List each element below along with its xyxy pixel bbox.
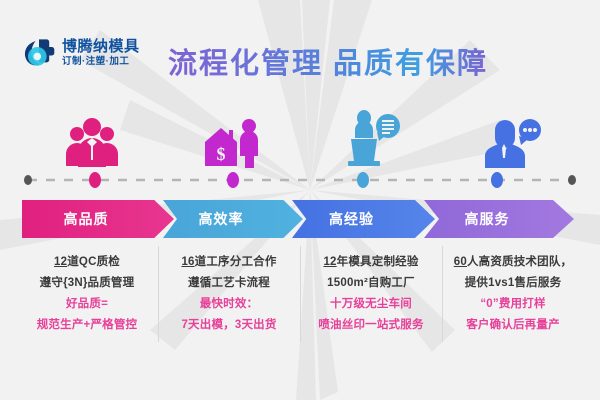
detail-column-service: 60人高资质技术团队，提供1vs1售后服务“0”费用打样客户确认后再量产 xyxy=(442,252,584,352)
svg-text:$: $ xyxy=(217,144,226,164)
chevron-banner: 高品质 高效率 高经验 高服务 xyxy=(22,200,578,238)
detail-line-text: 人高资质技术团队， xyxy=(467,256,572,268)
detail-line: 12道QC质检 xyxy=(20,252,154,273)
banner-label-efficiency: 高效率 xyxy=(199,209,244,229)
banner-label-experience: 高经验 xyxy=(329,209,374,229)
timeline-track xyxy=(0,170,600,190)
detail-line: “0”费用打样 xyxy=(446,294,580,315)
support-agent-chat-icon xyxy=(481,114,543,170)
highlight-number: 12 xyxy=(323,256,336,268)
detail-line-text: 遵循工艺卡流程 xyxy=(188,277,270,289)
detail-line-text: 规范生产+严格管控 xyxy=(37,319,138,331)
detail-line: 7天出模，3天出货 xyxy=(162,315,296,336)
timeline-dot-quality xyxy=(89,172,101,188)
detail-line: 客户确认后再量产 xyxy=(446,315,580,336)
icon-cell-efficiency: $ xyxy=(162,98,302,170)
icon-cell-quality xyxy=(22,98,162,170)
detail-line: 12年模具定制经验 xyxy=(304,252,438,273)
detail-line: 遵守{3N}品质管理 xyxy=(20,273,154,294)
banner-label-service: 高服务 xyxy=(465,209,510,229)
highlight-number: 16 xyxy=(181,256,194,268)
banner-item-service[interactable]: 高服务 xyxy=(424,200,574,238)
detail-line: 规范生产+严格管控 xyxy=(20,315,154,336)
detail-line: 好品质= xyxy=(20,294,154,315)
icon-row: $ xyxy=(0,98,600,170)
detail-line-text: 年模具定制经验 xyxy=(337,256,419,268)
detail-column-experience: 12年模具定制经验1500m²自购工厂十万级无尘车间喷油丝印一站式服务 xyxy=(300,252,442,352)
detail-line: 十万级无尘车间 xyxy=(304,294,438,315)
speaker-podium-chat-icon xyxy=(341,108,403,170)
banner-label-quality: 高品质 xyxy=(64,209,109,229)
detail-column-quality: 12道QC质检遵守{3N}品质管理好品质=规范生产+严格管控 xyxy=(16,252,158,352)
detail-line-text: 最快时效： xyxy=(200,298,259,310)
detail-line-text: 道QC质检 xyxy=(67,256,120,268)
detail-line: 提供1vs1售后服务 xyxy=(446,273,580,294)
detail-line-text: 1500m²自购工厂 xyxy=(327,277,415,289)
header: 博腾纳模具 订制·注塑·加工 流程化管理 品质有保障 xyxy=(0,0,600,96)
factory-house-money-icon: $ xyxy=(201,114,263,170)
detail-line: 1500m²自购工厂 xyxy=(304,273,438,294)
detail-line: 喷油丝印一站式服务 xyxy=(304,315,438,336)
detail-line-text: 喷油丝印一站式服务 xyxy=(318,319,423,331)
timeline-dot-end xyxy=(568,175,576,185)
timeline-dot-experience xyxy=(357,172,369,188)
brand-logo[interactable]: 博腾纳模具 订制·注塑·加工 xyxy=(22,36,140,70)
detail-line-text: 好品质= xyxy=(66,298,108,310)
detail-line-text: 提供1vs1售后服务 xyxy=(465,277,562,289)
infographic-poster: 博腾纳模具 订制·注塑·加工 流程化管理 品质有保障 xyxy=(0,0,600,400)
page-title: 流程化管理 品质有保障 xyxy=(168,40,488,82)
detail-line-text: 客户确认后再量产 xyxy=(466,319,560,331)
highlight-number: 12 xyxy=(54,256,67,268)
detail-line-text: “0”费用打样 xyxy=(480,298,545,310)
team-group-icon xyxy=(62,114,122,170)
banner-item-efficiency[interactable]: 高效率 xyxy=(163,200,303,238)
timeline-dot-start xyxy=(24,175,32,185)
detail-line: 16道工序分工合作 xyxy=(162,252,296,273)
brand-name: 博腾纳模具 xyxy=(62,39,140,54)
banner-item-quality[interactable]: 高品质 xyxy=(22,200,174,238)
timeline-dot-service xyxy=(491,172,503,188)
detail-line: 最快时效： xyxy=(162,294,296,315)
detail-line: 遵循工艺卡流程 xyxy=(162,273,296,294)
bloom-cross-logo-icon xyxy=(22,36,56,70)
detail-line-text: 7天出模，3天出货 xyxy=(181,319,276,331)
detail-line: 60人高资质技术团队， xyxy=(446,252,580,273)
brand-subtitle: 订制·注塑·加工 xyxy=(62,57,140,67)
detail-columns: 12道QC质检遵守{3N}品质管理好品质=规范生产+严格管控 16道工序分工合作… xyxy=(16,252,584,352)
icon-cell-service xyxy=(442,98,582,170)
detail-column-efficiency: 16道工序分工合作遵循工艺卡流程最快时效：7天出模，3天出货 xyxy=(158,252,300,352)
detail-line-text: 十万级无尘车间 xyxy=(330,298,412,310)
timeline-dot-efficiency xyxy=(227,172,239,188)
icon-cell-experience xyxy=(302,98,442,170)
detail-line-text: 道工序分工合作 xyxy=(195,256,277,268)
banner-item-experience[interactable]: 高经验 xyxy=(292,200,435,238)
highlight-number: 60 xyxy=(454,256,467,268)
detail-line-text: 遵守{3N}品质管理 xyxy=(40,277,135,289)
